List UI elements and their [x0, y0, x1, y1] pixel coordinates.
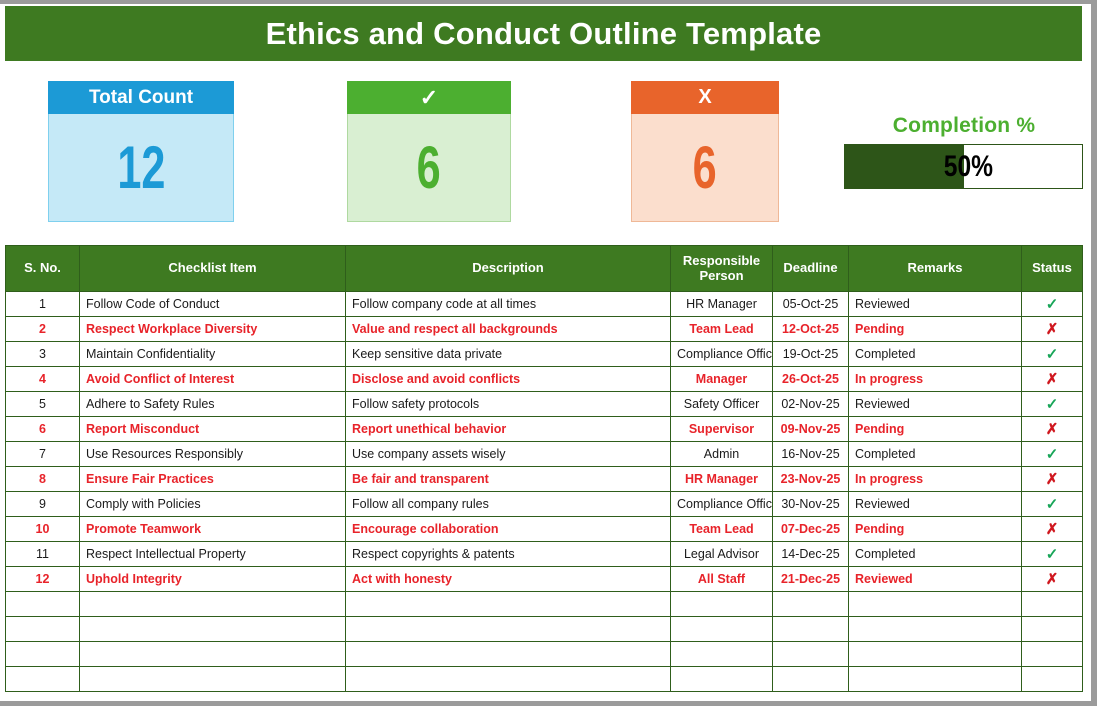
cell-description[interactable]: Encourage collaboration — [346, 517, 671, 542]
cell-deadline[interactable]: 23-Nov-25 — [773, 467, 849, 492]
kpi-total-count-value: 12 — [117, 138, 165, 198]
cell-remarks[interactable]: Completed — [849, 342, 1022, 367]
page-title: Ethics and Conduct Outline Template — [266, 16, 822, 52]
status-cross-icon[interactable]: ✗ — [1022, 417, 1083, 442]
cell-responsible-person[interactable] — [671, 667, 773, 692]
check-icon: ✓ — [1046, 296, 1059, 313]
completion-gauge: Completion % 50% — [844, 114, 1084, 189]
column-header-status[interactable]: Status — [1022, 246, 1083, 292]
cell-deadline[interactable]: 30-Nov-25 — [773, 492, 849, 517]
cell-responsible-person[interactable]: Compliance Officer — [671, 342, 773, 367]
cell-sno[interactable]: 4 — [6, 367, 80, 392]
status-check-icon[interactable]: ✓ — [1022, 342, 1083, 367]
cell-remarks[interactable]: Pending — [849, 417, 1022, 442]
check-icon: ✓ — [1046, 546, 1059, 563]
status-check-icon[interactable]: ✓ — [1022, 442, 1083, 467]
sheet-canvas: Ethics and Conduct Outline Template Tota… — [4, 4, 1091, 701]
cell-sno[interactable] — [6, 617, 80, 642]
status-check-icon[interactable]: ✓ — [1022, 292, 1083, 317]
cell-sno[interactable]: 9 — [6, 492, 80, 517]
cell-sno[interactable] — [6, 667, 80, 692]
column-header-responsible-person[interactable]: Responsible Person — [671, 246, 773, 292]
column-header-remarks[interactable]: Remarks — [849, 246, 1022, 292]
cell-responsible-person[interactable]: Supervisor — [671, 417, 773, 442]
cell-deadline[interactable]: 14-Dec-25 — [773, 542, 849, 567]
cell-deadline[interactable]: 09-Nov-25 — [773, 417, 849, 442]
cell-description[interactable]: Follow all company rules — [346, 492, 671, 517]
window-edge-bottom — [0, 701, 1097, 706]
cell-responsible-person[interactable] — [671, 617, 773, 642]
cell-deadline[interactable] — [773, 667, 849, 692]
cell-remarks[interactable]: Reviewed — [849, 392, 1022, 417]
cell-description[interactable]: Act with honesty — [346, 567, 671, 592]
kpi-total-count-label: Total Count — [48, 81, 234, 114]
table-row[interactable]: 4Avoid Conflict of InterestDisclose and … — [6, 367, 1083, 392]
cell-checklist-item[interactable]: Avoid Conflict of Interest — [80, 367, 346, 392]
cell-checklist-item[interactable]: Respect Workplace Diversity — [80, 317, 346, 342]
cell-description[interactable] — [346, 617, 671, 642]
cross-icon: ✗ — [1046, 521, 1059, 538]
cell-checklist-item[interactable]: Uphold Integrity — [80, 567, 346, 592]
cell-deadline[interactable]: 21-Dec-25 — [773, 567, 849, 592]
cell-remarks[interactable] — [849, 667, 1022, 692]
cell-checklist-item[interactable]: Ensure Fair Practices — [80, 467, 346, 492]
cell-responsible-person[interactable]: All Staff — [671, 567, 773, 592]
cell-responsible-person[interactable]: Admin — [671, 442, 773, 467]
table-row-empty[interactable] — [6, 592, 1083, 617]
cell-sno[interactable]: 8 — [6, 467, 80, 492]
table-row[interactable]: 7Use Resources ResponsiblyUse company as… — [6, 442, 1083, 467]
column-header-deadline[interactable]: Deadline — [773, 246, 849, 292]
status-cross-icon[interactable]: ✗ — [1022, 317, 1083, 342]
cell-sno[interactable]: 11 — [6, 542, 80, 567]
cell-description[interactable]: Keep sensitive data private — [346, 342, 671, 367]
title-banner: Ethics and Conduct Outline Template — [5, 6, 1082, 61]
cell-description[interactable]: Value and respect all backgrounds — [346, 317, 671, 342]
cell-description[interactable]: Follow company code at all times — [346, 292, 671, 317]
cell-responsible-person[interactable]: HR Manager — [671, 467, 773, 492]
completion-label: Completion % — [844, 114, 1084, 138]
table-row[interactable]: 3Maintain ConfidentialityKeep sensitive … — [6, 342, 1083, 367]
cell-checklist-item[interactable] — [80, 592, 346, 617]
table-row[interactable]: 12Uphold IntegrityAct with honestyAll St… — [6, 567, 1083, 592]
cell-sno[interactable]: 10 — [6, 517, 80, 542]
cell-remarks[interactable]: In progress — [849, 367, 1022, 392]
status-check-icon[interactable]: ✓ — [1022, 392, 1083, 417]
kpi-card-completed: ✓ 6 — [347, 81, 511, 222]
cell-checklist-item[interactable]: Follow Code of Conduct — [80, 292, 346, 317]
table-header-row: S. No. Checklist Item Description Respon… — [6, 246, 1083, 292]
cell-description[interactable]: Report unethical behavior — [346, 417, 671, 442]
cell-status[interactable] — [1022, 617, 1083, 642]
cell-deadline[interactable]: 02-Nov-25 — [773, 392, 849, 417]
cell-sno[interactable]: 6 — [6, 417, 80, 442]
column-header-description[interactable]: Description — [346, 246, 671, 292]
completion-percent-text: 50% — [866, 145, 1060, 188]
kpi-pending-body: 6 — [631, 114, 779, 222]
cell-deadline[interactable]: 16-Nov-25 — [773, 442, 849, 467]
cell-remarks[interactable] — [849, 617, 1022, 642]
cell-sno[interactable]: 3 — [6, 342, 80, 367]
cell-description[interactable]: Follow safety protocols — [346, 392, 671, 417]
cell-sno[interactable]: 12 — [6, 567, 80, 592]
cell-responsible-person[interactable] — [671, 642, 773, 667]
status-check-icon[interactable]: ✓ — [1022, 492, 1083, 517]
cell-responsible-person[interactable]: HR Manager — [671, 292, 773, 317]
cell-description[interactable]: Use company assets wisely — [346, 442, 671, 467]
kpi-card-pending: X 6 — [631, 81, 779, 222]
check-icon: ✓ — [1046, 396, 1059, 413]
cell-status[interactable] — [1022, 592, 1083, 617]
cell-status[interactable] — [1022, 667, 1083, 692]
cell-description[interactable]: Be fair and transparent — [346, 467, 671, 492]
check-icon: ✓ — [347, 81, 511, 114]
cross-icon: ✗ — [1046, 571, 1059, 588]
cross-icon: ✗ — [1046, 421, 1059, 438]
cell-sno[interactable] — [6, 642, 80, 667]
cross-icon: ✗ — [1046, 371, 1059, 388]
cell-checklist-item[interactable]: Use Resources Responsibly — [80, 442, 346, 467]
cell-deadline[interactable]: 07-Dec-25 — [773, 517, 849, 542]
table-row[interactable]: 9Comply with PoliciesFollow all company … — [6, 492, 1083, 517]
cell-description[interactable] — [346, 667, 671, 692]
cell-responsible-person[interactable]: Safety Officer — [671, 392, 773, 417]
table-body: 1Follow Code of ConductFollow company co… — [6, 292, 1083, 692]
cell-remarks[interactable]: Completed — [849, 442, 1022, 467]
cell-remarks[interactable]: Reviewed — [849, 292, 1022, 317]
cell-checklist-item[interactable]: Comply with Policies — [80, 492, 346, 517]
kpi-pending-value: 6 — [693, 138, 717, 198]
cross-icon: ✗ — [1046, 321, 1059, 338]
checklist-table: S. No. Checklist Item Description Respon… — [5, 245, 1083, 692]
column-header-sno[interactable]: S. No. — [6, 246, 80, 292]
cell-remarks[interactable]: In progress — [849, 467, 1022, 492]
cross-icon: ✗ — [1046, 471, 1059, 488]
cell-deadline[interactable] — [773, 617, 849, 642]
cell-deadline[interactable]: 05-Oct-25 — [773, 292, 849, 317]
table-row[interactable]: 5Adhere to Safety RulesFollow safety pro… — [6, 392, 1083, 417]
cell-remarks[interactable] — [849, 642, 1022, 667]
cell-responsible-person[interactable]: Manager — [671, 367, 773, 392]
cell-responsible-person[interactable]: Team Lead — [671, 517, 773, 542]
cell-description[interactable]: Disclose and avoid conflicts — [346, 367, 671, 392]
cell-responsible-person[interactable] — [671, 592, 773, 617]
completion-progress-bar: 50% — [844, 144, 1083, 189]
spreadsheet-page: Ethics and Conduct Outline Template Tota… — [0, 0, 1097, 706]
cell-remarks[interactable]: Completed — [849, 542, 1022, 567]
window-edge-right — [1091, 0, 1097, 706]
cell-checklist-item[interactable]: Respect Intellectual Property — [80, 542, 346, 567]
table-row[interactable]: 11Respect Intellectual PropertyRespect c… — [6, 542, 1083, 567]
cell-remarks[interactable]: Reviewed — [849, 567, 1022, 592]
cell-sno[interactable] — [6, 592, 80, 617]
status-cross-icon[interactable]: ✗ — [1022, 467, 1083, 492]
status-check-icon[interactable]: ✓ — [1022, 542, 1083, 567]
status-cross-icon[interactable]: ✗ — [1022, 367, 1083, 392]
cell-sno[interactable]: 5 — [6, 392, 80, 417]
cross-icon: X — [631, 81, 779, 114]
cell-deadline[interactable] — [773, 642, 849, 667]
kpi-card-total-count: Total Count 12 — [48, 81, 234, 222]
cell-checklist-item[interactable]: Report Misconduct — [80, 417, 346, 442]
table-row[interactable]: 10Promote TeamworkEncourage collaboratio… — [6, 517, 1083, 542]
cell-remarks[interactable]: Pending — [849, 317, 1022, 342]
cell-remarks[interactable] — [849, 592, 1022, 617]
kpi-completed-value: 6 — [417, 138, 441, 198]
cell-deadline[interactable]: 19-Oct-25 — [773, 342, 849, 367]
status-cross-icon[interactable]: ✗ — [1022, 567, 1083, 592]
kpi-completed-body: 6 — [347, 114, 511, 222]
check-icon: ✓ — [1046, 496, 1059, 513]
cell-description[interactable] — [346, 642, 671, 667]
table-row[interactable]: 6Report MisconductReport unethical behav… — [6, 417, 1083, 442]
cell-sno[interactable]: 1 — [6, 292, 80, 317]
cell-sno[interactable]: 2 — [6, 317, 80, 342]
cell-deadline[interactable]: 12-Oct-25 — [773, 317, 849, 342]
cell-responsible-person[interactable]: Legal Advisor — [671, 542, 773, 567]
cell-description[interactable]: Respect copyrights & patents — [346, 542, 671, 567]
cell-checklist-item[interactable] — [80, 617, 346, 642]
table-row[interactable]: 1Follow Code of ConductFollow company co… — [6, 292, 1083, 317]
table-row[interactable]: 2Respect Workplace DiversityValue and re… — [6, 317, 1083, 342]
cell-status[interactable] — [1022, 642, 1083, 667]
cell-checklist-item[interactable] — [80, 642, 346, 667]
cell-deadline[interactable] — [773, 592, 849, 617]
column-header-checklist-item[interactable]: Checklist Item — [80, 246, 346, 292]
table-row[interactable]: 8Ensure Fair PracticesBe fair and transp… — [6, 467, 1083, 492]
table-row-empty[interactable] — [6, 617, 1083, 642]
cell-remarks[interactable]: Pending — [849, 517, 1022, 542]
cell-remarks[interactable]: Reviewed — [849, 492, 1022, 517]
kpi-total-count-body: 12 — [48, 114, 234, 222]
check-icon: ✓ — [1046, 446, 1059, 463]
cell-responsible-person[interactable]: Team Lead — [671, 317, 773, 342]
checklist-table-wrapper: S. No. Checklist Item Description Respon… — [5, 245, 1082, 692]
cell-sno[interactable]: 7 — [6, 442, 80, 467]
cell-checklist-item[interactable]: Adhere to Safety Rules — [80, 392, 346, 417]
check-icon: ✓ — [1046, 346, 1059, 363]
cell-description[interactable] — [346, 592, 671, 617]
cell-deadline[interactable]: 26-Oct-25 — [773, 367, 849, 392]
cell-responsible-person[interactable]: Compliance Officer — [671, 492, 773, 517]
table-row-empty[interactable] — [6, 642, 1083, 667]
cell-checklist-item[interactable]: Promote Teamwork — [80, 517, 346, 542]
cell-checklist-item[interactable]: Maintain Confidentiality — [80, 342, 346, 367]
table-header: S. No. Checklist Item Description Respon… — [6, 246, 1083, 292]
status-cross-icon[interactable]: ✗ — [1022, 517, 1083, 542]
table-row-empty[interactable] — [6, 667, 1083, 692]
cell-checklist-item[interactable] — [80, 667, 346, 692]
